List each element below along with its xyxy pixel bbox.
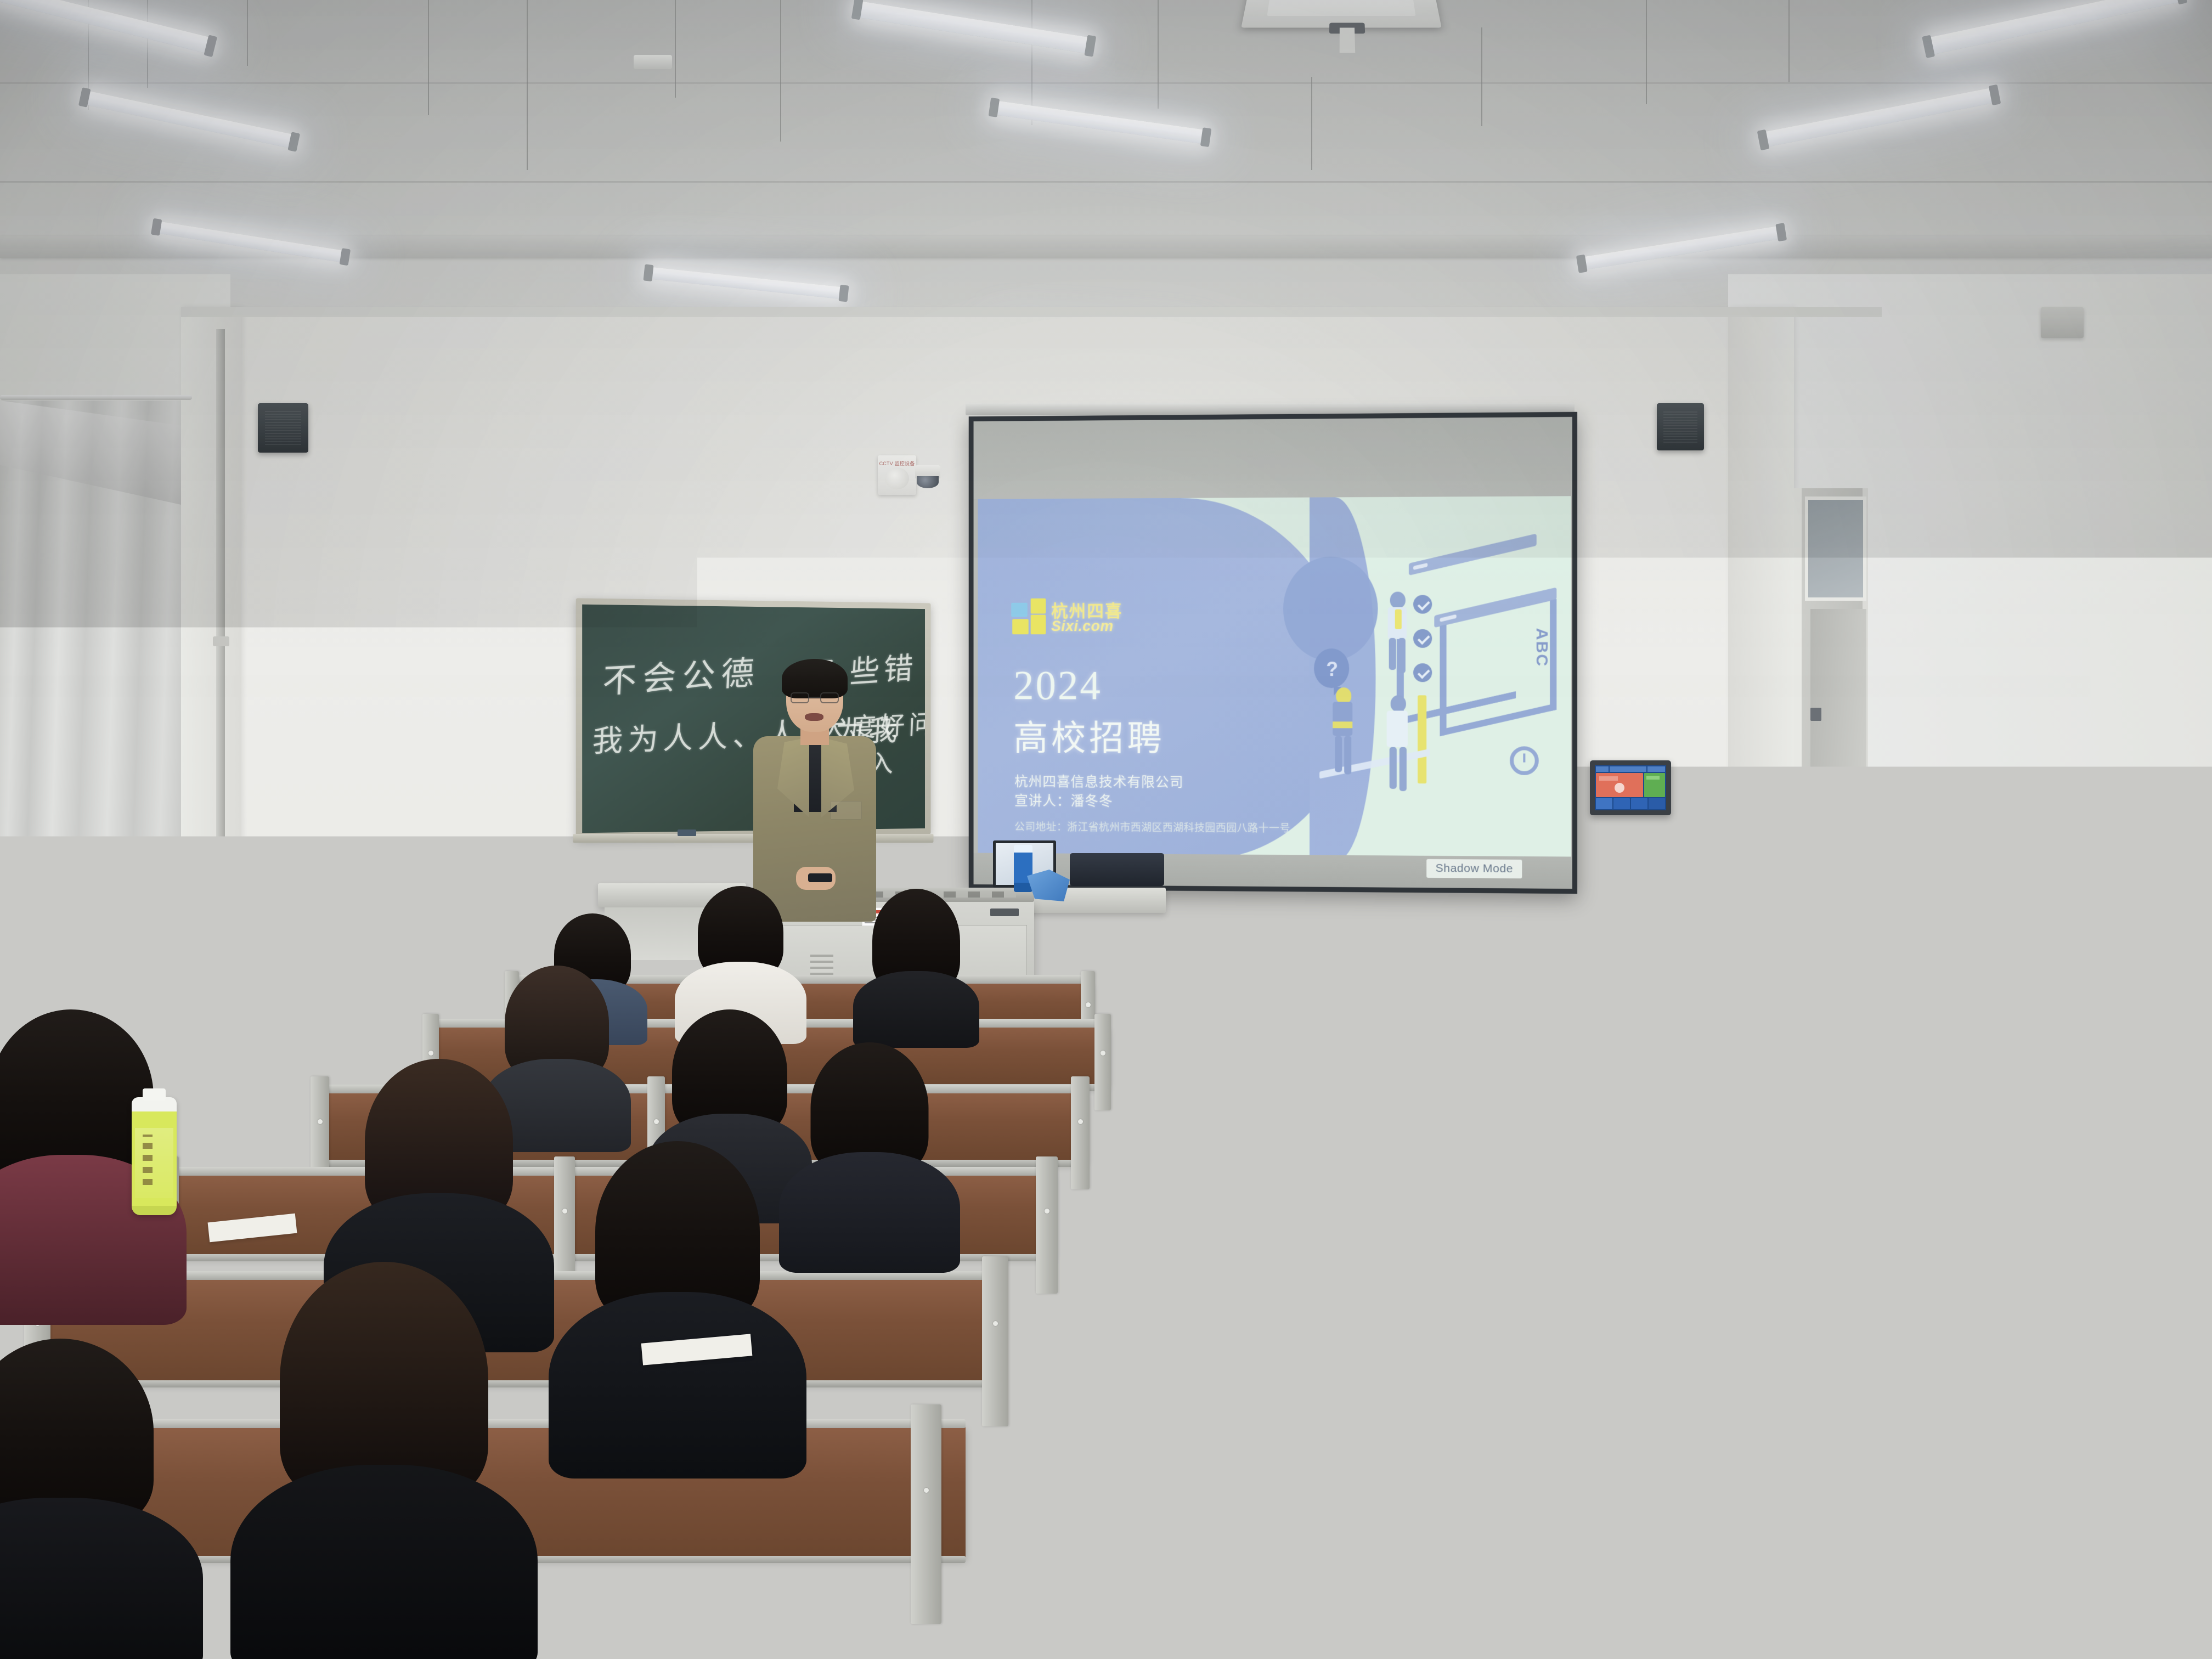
- right-pillar: [1728, 307, 1794, 988]
- presenter: [743, 664, 886, 922]
- student-front-left-3: [853, 889, 979, 1042]
- classroom-photo: 不会公德 我为人人、人人为我 那 些错 大度好问、5、 遍入 CCTV 监控设备…: [0, 0, 2212, 1659]
- projector-mount: [1339, 28, 1355, 53]
- student-near-left-3: [230, 1262, 538, 1659]
- wall-junction-box: [2041, 307, 2084, 338]
- checkmark-icon: [1413, 629, 1432, 648]
- slide-year: 2024: [1013, 662, 1102, 710]
- slide-address: 公司地址：浙江省杭州市西湖区西湖科技园西园八路十一号: [1014, 819, 1290, 836]
- shadow-mode-badge: Shadow Mode: [1426, 859, 1522, 878]
- control-tile-2[interactable]: [1613, 798, 1630, 809]
- presentation-clicker[interactable]: [808, 873, 832, 882]
- slide-title: 高校招聘: [1013, 710, 1165, 760]
- control-tile-3[interactable]: [1631, 798, 1647, 809]
- wall-control-panel[interactable]: [1590, 760, 1671, 815]
- dome-camera-icon: [915, 465, 940, 478]
- light-switch[interactable]: [1909, 812, 1932, 837]
- chalk-text-line: 不会公德: [602, 646, 761, 703]
- control-panel-screen[interactable]: [1595, 765, 1666, 810]
- wall-speaker-right: [1657, 403, 1704, 450]
- slide-presenter: 宣讲人：潘冬冬: [1014, 790, 1113, 810]
- control-tile-4[interactable]: [1649, 798, 1665, 809]
- student-near-left-2: [549, 1141, 806, 1470]
- checkmark-icon: [1413, 663, 1432, 682]
- slide-illustration: ABC ?: [1304, 529, 1565, 850]
- illustration-abc-label: ABC: [1531, 628, 1552, 668]
- curtain-rod: [0, 395, 192, 400]
- left-pillar: [181, 307, 241, 988]
- checkmark-icon: [1413, 595, 1432, 613]
- control-tile-1[interactable]: [1596, 798, 1612, 809]
- cctv-warning-sign: CCTV 监控设备: [878, 455, 916, 495]
- control-tile-green[interactable]: [1644, 773, 1665, 797]
- blue-bottle[interactable]: [1014, 845, 1032, 892]
- blackboard-eraser[interactable]: [678, 830, 696, 836]
- green-tea-bottle[interactable]: [132, 1097, 177, 1215]
- company-logo: 杭州四喜 Sixi.com: [1011, 598, 1124, 639]
- black-bag[interactable]: [1070, 853, 1164, 886]
- smoke-detector: [634, 55, 672, 69]
- door-leaf[interactable]: [1810, 609, 1866, 971]
- glasses-icon: [791, 692, 839, 703]
- ceiling-projector: [1241, 0, 1441, 28]
- logo-english-text: Sixi.com: [1051, 618, 1114, 635]
- pencil-icon: [1418, 695, 1426, 783]
- brand-plate: [990, 909, 1019, 916]
- wall-speaker-left: [258, 403, 308, 453]
- clock-icon: [1510, 746, 1539, 775]
- slide-company: 杭州四喜信息技术有限公司: [1014, 771, 1183, 791]
- student-right-edge: [2002, 1278, 2212, 1659]
- window-curtain[interactable]: [0, 400, 181, 1037]
- control-tile-red[interactable]: [1596, 773, 1643, 797]
- projection-screen: 杭州四喜 Sixi.com 2024 高校招聘 杭州四喜信息技术有限公司 宣讲人…: [969, 412, 1577, 894]
- door-transom-window: [1805, 496, 1866, 601]
- question-mark-glyph: ?: [1326, 658, 1338, 681]
- student-right-far: [1657, 982, 1810, 1125]
- cctv-sign-label: CCTV 监控设备: [878, 460, 916, 467]
- student-left-edge-front: [0, 1339, 203, 1659]
- conduit-coupling: [213, 636, 229, 646]
- presentation-slide: 杭州四喜 Sixi.com 2024 高校招聘 杭州四喜信息技术有限公司 宣讲人…: [978, 496, 1571, 861]
